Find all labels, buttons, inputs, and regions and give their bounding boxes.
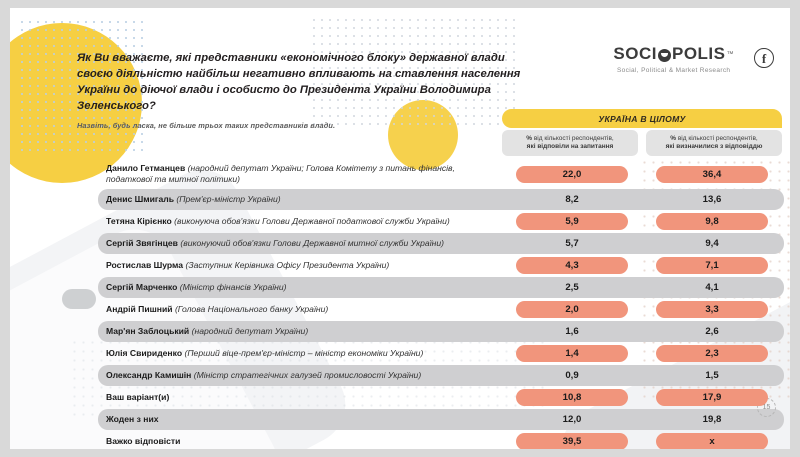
table-row: Тетяна Кірієнко (виконуюча обов'язки Гол…: [98, 211, 784, 232]
value-pill: 19,8: [656, 411, 768, 428]
value-pill: 2,6: [656, 323, 768, 340]
person-title: (виконуюча обов'язки Голови Державної по…: [174, 216, 450, 226]
table-row: Жоден з них12,019,8: [98, 409, 784, 430]
value-cell-1: 1,6: [502, 323, 642, 340]
row-label: Денис Шмигаль (Прем'єр-міністр України): [98, 194, 502, 205]
table-row: Юлія Свириденко (Перший віце-прем'єр-мін…: [98, 343, 784, 364]
table-row: Андрій Пишний (Голова Національного банк…: [98, 299, 784, 320]
person-name: Сергій Марченко: [106, 282, 177, 292]
value-cell-1: 2,0: [502, 301, 642, 318]
table-row: Сергій Марченко (Міністр фінансів Україн…: [98, 277, 784, 298]
row-label: Сергій Марченко (Міністр фінансів Україн…: [98, 282, 502, 293]
value-cell-1: 5,9: [502, 213, 642, 230]
row-label: Мар'ян Заблоцький (народний депутат Укра…: [98, 326, 502, 337]
row-label: Андрій Пишний (Голова Національного банк…: [98, 304, 502, 315]
sociopolis-logo: SOCI POLIS ™ Social, Political & Market …: [613, 44, 734, 74]
person-name: Андрій Пишний: [106, 304, 173, 314]
row-label: Олександр Камишін (Міністр стратегічних …: [98, 370, 502, 381]
value-cell-1: 8,2: [502, 191, 642, 208]
value-pill: x: [656, 433, 768, 449]
column-header-2: % від кількості респондентів, які визнач…: [646, 130, 782, 156]
value-pill: 2,0: [516, 301, 628, 318]
value-cell-2: 17,9: [642, 389, 782, 406]
logo-wordmark-left: SOCI: [613, 44, 657, 64]
value-cell-1: 12,0: [502, 411, 642, 428]
value-cell-1: 39,5: [502, 433, 642, 449]
value-cell-2: 9,8: [642, 213, 782, 230]
person-name: Данило Гетманцев: [106, 163, 185, 173]
person-name: Важко відповісти: [106, 436, 180, 446]
value-pill: 0,9: [516, 367, 628, 384]
person-title: (Міністр стратегічних галузей промислово…: [194, 370, 421, 380]
person-name: Олександр Камишін: [106, 370, 191, 380]
value-pill: 5,7: [516, 235, 628, 252]
region-banner-label: УКРАЇНА В ЦІЛОМУ: [598, 114, 685, 124]
row-label: Данило Гетманцев (народний депутат Украї…: [98, 163, 502, 186]
person-title: (Міністр фінансів України): [180, 282, 287, 292]
value-cell-2: 2,6: [642, 323, 782, 340]
value-cell-2: 2,3: [642, 345, 782, 362]
row-label: Юлія Свириденко (Перший віце-прем'єр-мін…: [98, 348, 502, 359]
value-pill: 12,0: [516, 411, 628, 428]
value-cell-1: 0,9: [502, 367, 642, 384]
value-pill: 2,3: [656, 345, 768, 362]
person-name: Ростислав Шурма: [106, 260, 183, 270]
value-pill: 1,6: [516, 323, 628, 340]
question-block: Як Ви вважаєте, які представники «економ…: [77, 50, 537, 130]
row-label: Важко відповісти: [98, 436, 502, 447]
value-pill: 22,0: [516, 166, 628, 183]
value-cell-1: 10,8: [502, 389, 642, 406]
value-cell-1: 2,5: [502, 279, 642, 296]
person-title: (виконуючий обов'язки Голови Державної м…: [180, 238, 444, 248]
row-label: Ваш варіант(и): [98, 392, 502, 403]
value-cell-2: 9,4: [642, 235, 782, 252]
logo-tagline: Social, Political & Market Research: [613, 67, 734, 74]
results-table: Данило Гетманцев (народний депутат Украї…: [98, 160, 784, 449]
person-title: (Заступник Керівника Офісу Президента Ук…: [185, 260, 389, 270]
person-title: (народний депутат України): [192, 326, 309, 336]
person-name: Юлія Свириденко: [106, 348, 182, 358]
smiley-circle-icon: [658, 49, 671, 62]
value-cell-2: 3,3: [642, 301, 782, 318]
value-cell-2: 1,5: [642, 367, 782, 384]
row-label: Сергій Звягінцев (виконуючий обов'язки Г…: [98, 238, 502, 249]
value-cell-2: 4,1: [642, 279, 782, 296]
column-header-2-text2: які визначилися з відповіддю: [666, 143, 763, 150]
value-cell-1: 5,7: [502, 235, 642, 252]
value-pill: 2,5: [516, 279, 628, 296]
column-header-1-text2: які відповіли на запитання: [527, 143, 614, 150]
column-header-2-line2: які визначилися з відповіддю: [666, 143, 763, 151]
value-pill: 36,4: [656, 166, 768, 183]
row-label: Ростислав Шурма (Заступник Керівника Офі…: [98, 260, 502, 271]
value-cell-1: 1,4: [502, 345, 642, 362]
value-pill: 1,4: [516, 345, 628, 362]
slide-canvas: SOCI POLIS ™ Social, Political & Market …: [10, 8, 790, 449]
column-header-2-line1: % від кількості респондентів,: [670, 135, 757, 143]
person-name: Сергій Звягінцев: [106, 238, 178, 248]
value-pill: 39,5: [516, 433, 628, 449]
region-banner: УКРАЇНА В ЦІЛОМУ: [502, 109, 782, 128]
facebook-icon[interactable]: f: [754, 48, 774, 68]
column-header-1-text: від кількості респондентів,: [532, 135, 614, 142]
value-pill: 9,8: [656, 213, 768, 230]
person-name: Мар'ян Заблоцький: [106, 326, 189, 336]
logo-wordmark-right: POLIS: [672, 44, 726, 64]
question-title: Як Ви вважаєте, які представники «економ…: [77, 50, 537, 114]
table-row: Важко відповісти39,5x: [98, 431, 784, 449]
value-pill: 9,4: [656, 235, 768, 252]
value-cell-2: 13,6: [642, 191, 782, 208]
value-pill: 7,1: [656, 257, 768, 274]
gray-pill-decoration: [62, 289, 96, 309]
person-name: Денис Шмигаль: [106, 194, 174, 204]
value-cell-2: x: [642, 433, 782, 449]
table-row: Данило Гетманцев (народний депутат Украї…: [98, 160, 784, 188]
value-pill: 4,1: [656, 279, 768, 296]
column-header-1-line1: % від кількості респондентів,: [526, 135, 613, 143]
person-name: Ваш варіант(и): [106, 392, 169, 402]
value-pill: 4,3: [516, 257, 628, 274]
column-header-1-line2: які відповіли на запитання: [527, 143, 614, 151]
row-label: Тетяна Кірієнко (виконуюча обов'язки Гол…: [98, 216, 502, 227]
value-cell-2: 36,4: [642, 166, 782, 183]
value-pill: 10,8: [516, 389, 628, 406]
value-pill: 17,9: [656, 389, 768, 406]
row-label: Жоден з них: [98, 414, 502, 425]
value-pill: 8,2: [516, 191, 628, 208]
logo-wordmark: SOCI POLIS ™: [613, 44, 734, 64]
value-cell-2: 7,1: [642, 257, 782, 274]
question-note: Назвіть, будь ласка, не більше трьох так…: [77, 121, 537, 130]
person-title: (Прем'єр-міністр України): [176, 194, 280, 204]
table-row: Сергій Звягінцев (виконуючий обов'язки Г…: [98, 233, 784, 254]
table-row: Ростислав Шурма (Заступник Керівника Офі…: [98, 255, 784, 276]
trademark-symbol: ™: [727, 51, 735, 58]
column-header-1: % від кількості респондентів, які відпов…: [502, 130, 638, 156]
value-pill: 3,3: [656, 301, 768, 318]
table-row: Ваш варіант(и)10,817,9: [98, 387, 784, 408]
value-cell-2: 19,8: [642, 411, 782, 428]
value-pill: 13,6: [656, 191, 768, 208]
table-row: Олександр Камишін (Міністр стратегічних …: [98, 365, 784, 386]
person-name: Тетяна Кірієнко: [106, 216, 172, 226]
value-cell-1: 22,0: [502, 166, 642, 183]
value-pill: 5,9: [516, 213, 628, 230]
person-title: (Голова Національного банку України): [175, 304, 328, 314]
person-name: Жоден з них: [106, 414, 159, 424]
table-row: Денис Шмигаль (Прем'єр-міністр України)8…: [98, 189, 784, 210]
person-title: (Перший віце-прем'єр-міністр – міністр е…: [184, 348, 423, 358]
column-header-2-text: від кількості респондентів,: [676, 135, 758, 142]
facebook-glyph: f: [762, 52, 766, 65]
value-pill: 1,5: [656, 367, 768, 384]
table-row: Мар'ян Заблоцький (народний депутат Укра…: [98, 321, 784, 342]
value-cell-1: 4,3: [502, 257, 642, 274]
